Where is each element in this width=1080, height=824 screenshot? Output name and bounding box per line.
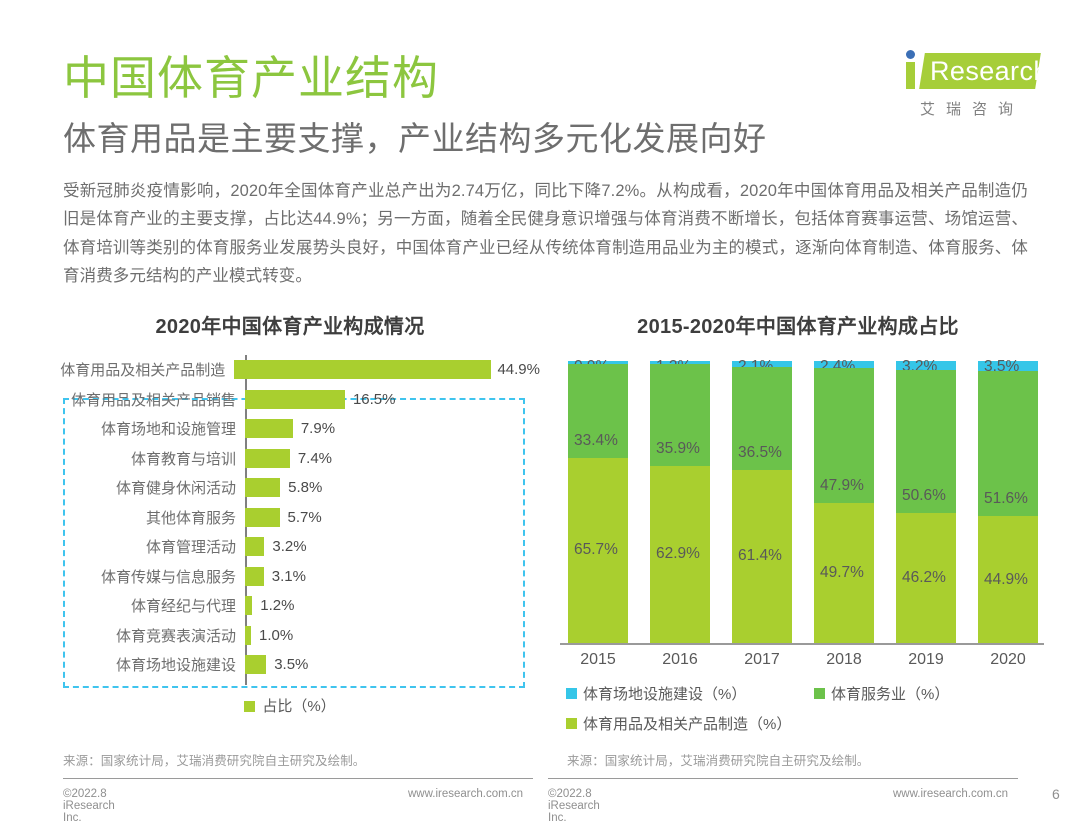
footer-rule-left xyxy=(63,778,533,779)
stacked-segment-value-label: 46.2% xyxy=(902,569,946,587)
bar-segment xyxy=(234,360,491,379)
stacked-bar-segment: 3.5% xyxy=(978,361,1038,371)
stacked-bar-column: 2.1%36.5%61.4% xyxy=(732,361,792,643)
legend-label-share: 占比（%） xyxy=(262,698,335,715)
bar-category-label: 体育场地和设施管理 xyxy=(40,418,245,439)
bar-category-label: 体育教育与培训 xyxy=(40,448,245,469)
bar-category-label: 体育竞赛表演活动 xyxy=(40,625,245,646)
logo-i-dot-icon xyxy=(906,50,915,59)
bar-category-label: 体育场地设施建设 xyxy=(40,654,245,675)
legend-label: 体育场地设施建设（%） xyxy=(583,683,746,704)
left-chart-panel: 2020年中国体育产业构成情况 体育用品及相关产品制造44.9%体育用品及相关产… xyxy=(40,300,540,770)
stacked-bar-segment: 47.9% xyxy=(814,368,874,503)
bar-row: 体育传媒与信息服务3.1% xyxy=(40,562,540,592)
bar-segment xyxy=(245,449,290,468)
stacked-bar-segment: 3.2% xyxy=(896,361,956,370)
horizontal-bar-chart: 体育用品及相关产品制造44.9%体育用品及相关产品销售16.5%体育场地和设施管… xyxy=(40,355,540,685)
bar-row: 体育竞赛表演活动1.0% xyxy=(40,621,540,651)
stacked-bar-segment: 35.9% xyxy=(650,364,710,465)
bar-row: 其他体育服务5.7% xyxy=(40,503,540,533)
logo-mark: Research xyxy=(900,48,1040,96)
bar-category-label: 体育用品及相关产品销售 xyxy=(40,389,245,410)
axis-tick-label: 2017 xyxy=(732,651,792,669)
stacked-bar-segment: 2.4% xyxy=(814,361,874,368)
stacked-segment-value-label: 35.9% xyxy=(656,440,700,458)
stacked-bar-segment: 50.6% xyxy=(896,370,956,513)
stacked-bar-segment: 62.9% xyxy=(650,466,710,643)
bar-row: 体育健身休闲活动5.8% xyxy=(40,473,540,503)
bar-row: 体育场地设施建设3.5% xyxy=(40,650,540,680)
logo-chinese-name: 艾瑞咨询 xyxy=(920,98,1024,119)
stacked-bar-column: 0.9%33.4%65.7% xyxy=(568,361,628,643)
bar-category-label: 其他体育服务 xyxy=(40,507,245,528)
page-subtitle: 体育用品是主要支撑，产业结构多元化发展向好 xyxy=(63,118,767,159)
left-chart-title: 2020年中国体育产业构成情况 xyxy=(40,300,540,339)
bar-row: 体育经纪与代理1.2% xyxy=(40,591,540,621)
bar-row: 体育用品及相关产品制造44.9% xyxy=(40,355,540,385)
footer-rule-right xyxy=(548,778,1018,779)
legend-item[interactable]: 体育用品及相关产品制造（%） xyxy=(566,713,791,734)
bar-segment xyxy=(245,419,293,438)
slide-page: Research 艾瑞咨询 中国体育产业结构 体育用品是主要支撑，产业结构多元化… xyxy=(0,0,1080,810)
category-axis-line xyxy=(560,643,1044,645)
bar-category-label: 体育健身休闲活动 xyxy=(40,477,245,498)
bar-row: 体育场地和设施管理7.9% xyxy=(40,414,540,444)
bar-segment xyxy=(245,537,264,556)
stacked-segment-value-label: 65.7% xyxy=(574,541,618,559)
stacked-segment-value-label: 44.9% xyxy=(984,571,1028,589)
stacked-segment-value-label: 50.6% xyxy=(902,487,946,505)
stacked-segment-value-label: 51.6% xyxy=(984,490,1028,508)
bar-row: 体育用品及相关产品销售16.5% xyxy=(40,385,540,415)
legend-swatch xyxy=(566,688,577,699)
legend-row: 体育场地设施建设（%）体育服务业（%） xyxy=(548,683,1048,704)
axis-tick-label: 2015 xyxy=(568,651,628,669)
stacked-segment-value-label: 33.4% xyxy=(574,432,618,450)
bar-row: 体育教育与培训7.4% xyxy=(40,444,540,474)
right-chart-panel: 2015-2020年中国体育产业构成占比 0.9%33.4%65.7%1.2%3… xyxy=(548,300,1048,770)
bar-value-label: 3.5% xyxy=(266,656,308,673)
stacked-bar-segment: 51.6% xyxy=(978,371,1038,517)
iresearch-logo: Research 艾瑞咨询 xyxy=(900,48,1040,126)
right-chart-source: 来源：国家统计局，艾瑞消费研究院自主研究及绘制。 xyxy=(567,750,869,769)
bar-segment xyxy=(245,596,252,615)
legend-item[interactable]: 体育场地设施建设（%） xyxy=(566,683,814,704)
stacked-bar-column: 3.5%51.6%44.9% xyxy=(978,361,1038,643)
stacked-segment-value-label: 36.5% xyxy=(738,444,782,462)
bar-segment xyxy=(245,655,266,674)
bar-value-label: 7.4% xyxy=(290,450,332,467)
bar-category-label: 体育用品及相关产品制造 xyxy=(40,359,234,380)
bar-row: 体育管理活动3.2% xyxy=(40,532,540,562)
bar-value-label: 7.9% xyxy=(293,420,335,437)
stacked-segment-value-label: 49.7% xyxy=(820,564,864,582)
right-chart-title: 2015-2020年中国体育产业构成占比 xyxy=(548,300,1048,339)
bar-segment xyxy=(245,567,264,586)
bar-value-label: 1.2% xyxy=(252,597,294,614)
stacked-bar-chart: 0.9%33.4%65.7%1.2%35.9%62.9%2.1%36.5%61.… xyxy=(548,361,1048,661)
legend-row: 体育用品及相关产品制造（%） xyxy=(548,713,1048,734)
stacked-bar-segment: 65.7% xyxy=(568,458,628,643)
legend-item[interactable]: 体育服务业（%） xyxy=(814,683,949,704)
stacked-segment-value-label: 61.4% xyxy=(738,547,782,565)
footer-copyright-right: ©2022.8 iResearch Inc. xyxy=(548,788,600,824)
page-title: 中国体育产业结构 xyxy=(63,55,439,101)
stacked-segment-value-label: 62.9% xyxy=(656,545,700,563)
axis-tick-label: 2020 xyxy=(978,651,1038,669)
body-paragraph: 受新冠肺炎疫情影响，2020年全国体育产业总产出为2.74万亿，同比下降7.2%… xyxy=(63,177,1028,291)
legend-swatch-share xyxy=(244,701,255,712)
stacked-bar-segment: 61.4% xyxy=(732,470,792,643)
stacked-bar-segment: 49.7% xyxy=(814,503,874,643)
axis-tick-label: 2016 xyxy=(650,651,710,669)
bar-value-label: 5.7% xyxy=(280,509,322,526)
bar-segment xyxy=(245,390,345,409)
bar-value-label: 3.1% xyxy=(264,568,306,585)
right-chart-legend: 体育场地设施建设（%）体育服务业（%）体育用品及相关产品制造（%） xyxy=(548,683,1048,734)
bar-segment xyxy=(245,478,280,497)
stacked-bar-segment: 33.4% xyxy=(568,364,628,458)
bar-value-label: 5.8% xyxy=(280,479,322,496)
legend-swatch xyxy=(814,688,825,699)
stacked-bar-segment: 36.5% xyxy=(732,367,792,470)
legend-label: 体育用品及相关产品制造（%） xyxy=(583,713,791,734)
axis-tick-label: 2018 xyxy=(814,651,874,669)
legend-swatch xyxy=(566,718,577,729)
footer-copyright-left: ©2022.8 iResearch Inc. xyxy=(63,788,115,824)
page-number: 6 xyxy=(1052,786,1060,802)
left-chart-source: 来源：国家统计局，艾瑞消费研究院自主研究及绘制。 xyxy=(63,750,365,769)
footer-website-left[interactable]: www.iresearch.com.cn xyxy=(408,788,523,800)
bar-segment xyxy=(245,508,280,527)
stacked-segment-value-label: 47.9% xyxy=(820,477,864,495)
legend-label: 体育服务业（%） xyxy=(831,683,949,704)
bar-category-label: 体育经纪与代理 xyxy=(40,595,245,616)
logo-wordmark: Research xyxy=(930,56,1049,87)
axis-tick-label: 2019 xyxy=(896,651,956,669)
stacked-bar-segment: 46.2% xyxy=(896,513,956,643)
footer-website-right[interactable]: www.iresearch.com.cn xyxy=(893,788,1008,800)
bar-value-label: 1.0% xyxy=(251,627,293,644)
bar-category-label: 体育管理活动 xyxy=(40,536,245,557)
bar-value-label: 16.5% xyxy=(345,391,396,408)
left-chart-legend: 占比（%） xyxy=(40,695,540,716)
stacked-bar-column: 1.2%35.9%62.9% xyxy=(650,361,710,643)
stacked-bar-column: 2.4%47.9%49.7% xyxy=(814,361,874,643)
stacked-bar-column: 3.2%50.6%46.2% xyxy=(896,361,956,643)
bar-value-label: 44.9% xyxy=(491,361,540,378)
stacked-bar-segment: 44.9% xyxy=(978,516,1038,643)
logo-i-stem-icon xyxy=(906,62,915,89)
bar-value-label: 3.2% xyxy=(264,538,306,555)
bar-category-label: 体育传媒与信息服务 xyxy=(40,566,245,587)
